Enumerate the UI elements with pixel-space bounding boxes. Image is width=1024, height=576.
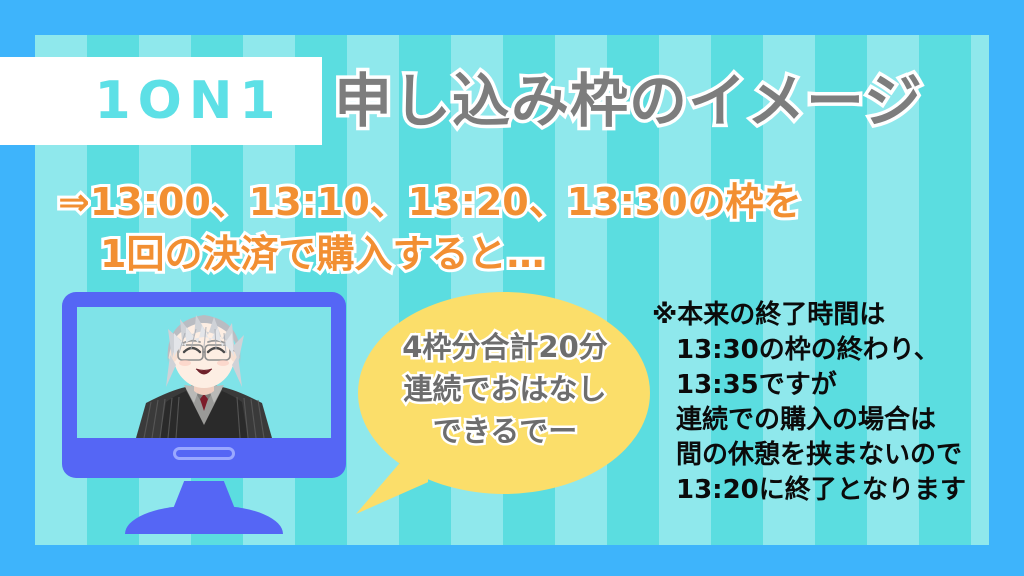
subheading-line-2: 1回の決済で購入すると… xyxy=(58,228,958,280)
bubble-line-2: 連続でおはなし xyxy=(360,368,650,410)
anime-man-avatar xyxy=(116,307,292,438)
desktop-monitor-icon xyxy=(62,292,346,540)
slide-canvas: 1ON1 申し込み枠のイメージ ⇒13:00、13:10、13:20、13:30… xyxy=(0,0,1024,576)
badge-label: 1ON1 xyxy=(39,75,282,127)
bubble-line-3: できるでー xyxy=(360,410,650,452)
monitor-light-bar xyxy=(173,447,235,460)
note-line-5: 間の休憩を挟まないので xyxy=(652,438,1012,473)
badge-1on1: 1ON1 xyxy=(0,57,322,145)
subheading-line-1: ⇒13:00、13:10、13:20、13:30の枠を xyxy=(58,176,958,228)
monitor-neck xyxy=(173,481,235,509)
monitor-screen xyxy=(77,307,331,438)
monitor-base xyxy=(125,506,283,534)
page-title: 申し込み枠のイメージ xyxy=(334,61,923,141)
subheading-block: ⇒13:00、13:10、13:20、13:30の枠を 1回の決済で購入すると… xyxy=(58,176,958,280)
note-line-3: 13:35ですが xyxy=(652,368,1012,403)
title-row: 1ON1 申し込み枠のイメージ xyxy=(0,57,1024,145)
note-line-6: 13:20に終了となります xyxy=(652,473,1012,508)
note-line-1: ※本来の終了時間は xyxy=(652,298,1012,333)
note-block: ※本来の終了時間は 13:30の枠の終わり、 13:35ですが 連続での購入の場… xyxy=(652,298,1012,508)
note-line-4: 連続での購入の場合は xyxy=(652,403,1012,438)
speech-bubble-text: 4枠分合計20分 連続でおはなし できるでー xyxy=(360,326,650,452)
note-line-2: 13:30の枠の終わり、 xyxy=(652,333,1012,368)
bubble-line-1: 4枠分合計20分 xyxy=(360,326,650,368)
